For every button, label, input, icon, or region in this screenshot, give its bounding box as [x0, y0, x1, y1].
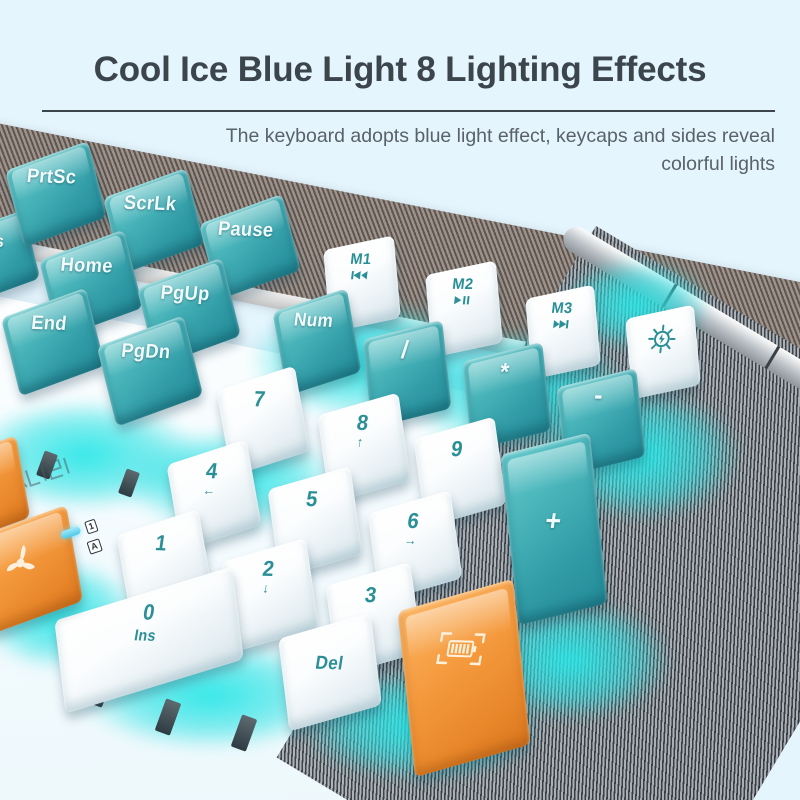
key-plus[interactable]: + [500, 433, 607, 626]
key-enter-battery[interactable] [398, 579, 531, 778]
page-title: Cool Ice Blue Light 8 Lighting Effects [0, 50, 800, 90]
title-divider [42, 110, 775, 112]
page-subtitle: The keyboard adopts blue light effect, k… [180, 122, 775, 178]
header: Cool Ice Blue Light 8 Lighting Effects T… [0, 0, 800, 190]
